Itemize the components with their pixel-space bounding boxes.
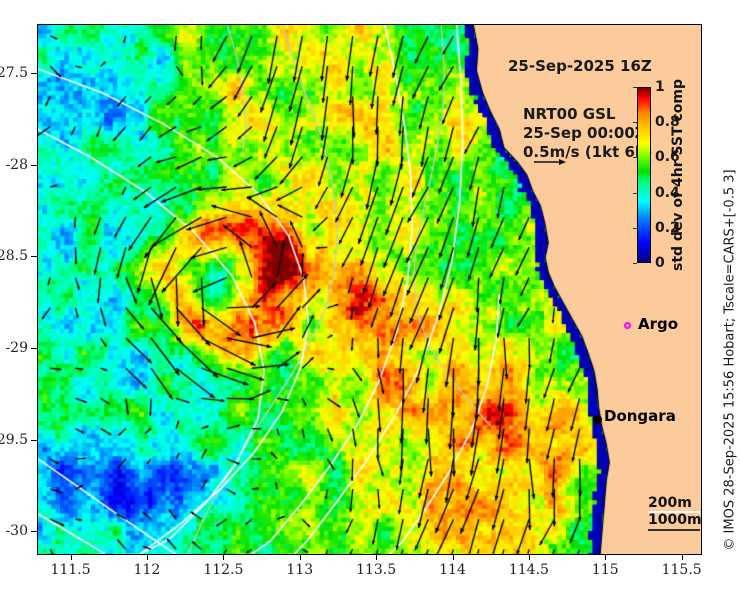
- colorbar-tick: [633, 122, 637, 123]
- x-tick-label: 113.5: [356, 562, 396, 578]
- product-line-2: 25-Sep 00:00Z: [523, 124, 646, 142]
- x-tick: [376, 554, 377, 560]
- x-tick: [147, 554, 148, 560]
- x-tick: [71, 554, 72, 560]
- x-tick-label: 114: [439, 562, 466, 578]
- arrow-right-icon: [533, 156, 567, 168]
- argo-label: Argo: [638, 315, 678, 333]
- y-tick-label: -28: [5, 157, 28, 173]
- x-tick-label: 114.5: [509, 562, 549, 578]
- dongara-label: Dongara: [604, 407, 676, 425]
- y-tick-label: -28.5: [0, 248, 28, 264]
- colorbar-tick: [633, 263, 637, 264]
- colorbar-tick-label: 0: [655, 255, 665, 271]
- x-tick-label: 112: [134, 562, 161, 578]
- y-tick-label: -29.5: [0, 432, 28, 448]
- colorbar-gradient: [637, 87, 651, 263]
- contour-key-line-200m: [648, 511, 700, 513]
- x-tick: [529, 554, 530, 560]
- x-tick-label: 115: [592, 562, 619, 578]
- colorbar-tick: [633, 87, 637, 88]
- x-tick: [453, 554, 454, 560]
- y-tick: [31, 531, 37, 532]
- x-tick: [605, 554, 606, 560]
- y-tick-label: -30: [5, 523, 28, 539]
- dongara-marker[interactable]: [593, 415, 602, 424]
- colorbar-tick: [633, 157, 637, 158]
- x-tick-label: 112.5: [203, 562, 243, 578]
- colorbar-tick-label: 1: [655, 79, 665, 95]
- contour-key-line-1000m: [648, 529, 700, 531]
- y-tick: [31, 348, 37, 349]
- y-tick-label: -27.5: [0, 65, 28, 81]
- x-tick: [682, 554, 683, 560]
- timestamp-annotation: 25-Sep-2025 16Z: [508, 57, 652, 75]
- y-tick-label: -29: [5, 340, 28, 356]
- product-annotation: NRT00 GSL25-Sep 00:00Z0.5m/s (1kt 6h): [523, 105, 652, 162]
- y-tick: [31, 73, 37, 74]
- x-tick-label: 115.5: [662, 562, 702, 578]
- argo-marker[interactable]: [624, 322, 631, 329]
- x-tick: [300, 554, 301, 560]
- x-tick-label: 113: [286, 562, 313, 578]
- x-tick: [223, 554, 224, 560]
- y-tick: [31, 256, 37, 257]
- y-tick: [31, 165, 37, 166]
- product-line-1: NRT00 GSL: [523, 105, 615, 123]
- y-tick: [31, 440, 37, 441]
- contour-key-1000m: 1000m: [648, 512, 702, 529]
- x-tick-label: 111.5: [51, 562, 91, 578]
- colorbar-title: std dev of 4hr SST comp: [670, 79, 686, 271]
- figure-root: 25-Sep-2025 16Z NRT00 GSL25-Sep 00:00Z0.…: [0, 0, 740, 592]
- attribution-text: © IMOS 28-Sep-2025 15:56 Hobart; Tscale=…: [723, 169, 738, 550]
- map-plot-area[interactable]: 25-Sep-2025 16Z NRT00 GSL25-Sep 00:00Z0.…: [37, 24, 702, 555]
- contour-key-200m: 200m: [648, 495, 692, 512]
- colorbar-tick: [633, 193, 637, 194]
- colorbar-tick: [633, 228, 637, 229]
